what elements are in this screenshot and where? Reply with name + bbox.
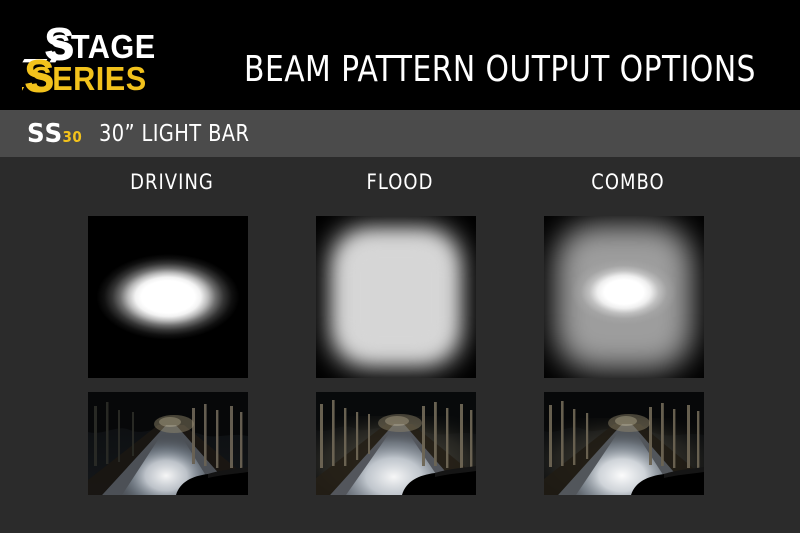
driving-beam-render — [88, 216, 248, 378]
product-subtitle-bar: SS 30 30” LIGHT BAR — [0, 110, 800, 157]
model-badge-prefix: SS — [27, 119, 63, 149]
column-label-driving: DRIVING — [62, 170, 282, 194]
driving-hotspot — [88, 216, 248, 378]
combo-beam-pattern — [544, 216, 704, 378]
combo-road-render — [544, 392, 704, 495]
column-label-flood: FLOOD — [290, 170, 510, 194]
flood-wash-inner — [342, 239, 451, 356]
header-band: STAGE SERIES S S BEAM PATTERN OUTPUT OPT… — [0, 0, 800, 110]
combo-beam-render — [544, 216, 704, 378]
flood-road-photo — [316, 392, 476, 495]
column-label-combo: COMBO — [518, 170, 738, 194]
beam-pattern-infographic: STAGE SERIES S S BEAM PATTERN OUTPUT OPT… — [0, 0, 800, 533]
stage-series-logo: STAGE SERIES S S — [22, 18, 202, 98]
driving-beam-pattern — [88, 216, 248, 378]
driving-road-render — [88, 392, 248, 495]
beam-comparison-grid: DRIVING — [0, 157, 800, 533]
model-badge: SS 30 — [27, 119, 82, 149]
page-title: BEAM PATTERN OUTPUT OPTIONS — [231, 48, 768, 92]
product-name-label: 30” LIGHT BAR — [99, 121, 249, 147]
driving-road-photo — [88, 392, 248, 495]
combo-hotspot — [544, 216, 704, 373]
logo-capital-s2: S — [24, 50, 55, 98]
model-badge-size: 30 — [63, 128, 83, 146]
flood-beam-render — [316, 216, 476, 378]
flood-beam-pattern — [316, 216, 476, 378]
flood-road-render — [316, 392, 476, 495]
combo-road-photo — [544, 392, 704, 495]
